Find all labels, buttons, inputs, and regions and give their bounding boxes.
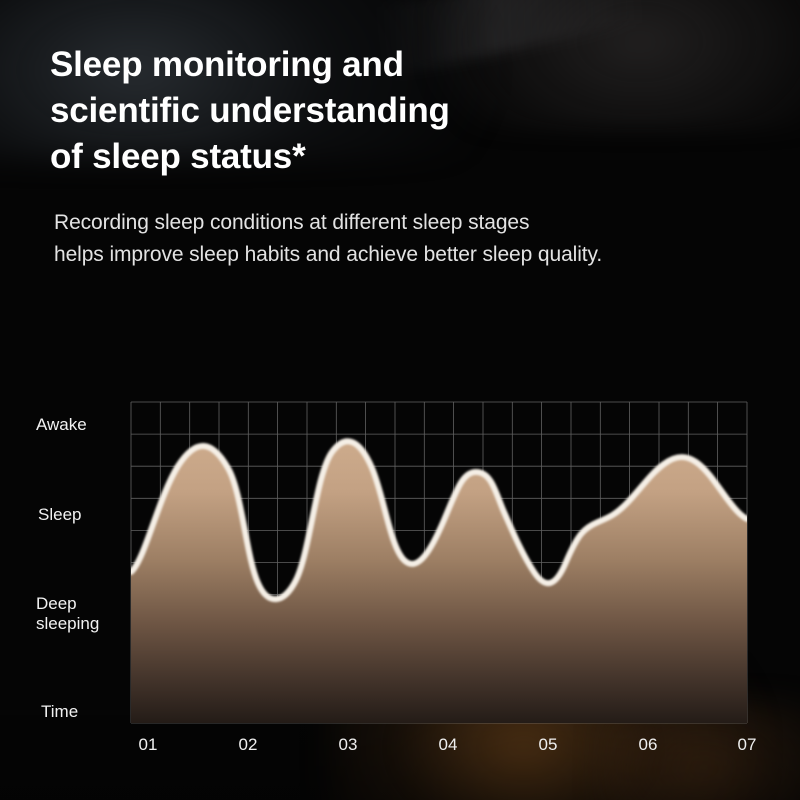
sleep-monitoring-promo-page: Sleep monitoring and scientific understa…: [0, 0, 800, 800]
x-axis-tick-04: 04: [428, 735, 468, 755]
background-glow-bottom-warm: [330, 660, 760, 800]
x-axis-tick-02: 02: [228, 735, 268, 755]
x-axis-tick-06: 06: [628, 735, 668, 755]
y-axis-label-deep-sleeping: Deep sleeping: [36, 594, 99, 635]
sleep-curve-area: [131, 441, 747, 723]
page-title: Sleep monitoring and scientific understa…: [50, 42, 650, 181]
x-axis-tick-05: 05: [528, 735, 568, 755]
background-vignette-bottom: [0, 680, 800, 800]
sleep-curve-line: [131, 441, 747, 599]
x-axis-tick-07: 07: [727, 735, 767, 755]
y-axis-label-awake: Awake: [36, 415, 87, 435]
x-axis-tick-03: 03: [328, 735, 368, 755]
y-axis-label-time: Time: [41, 702, 78, 722]
page-subtitle: Recording sleep conditions at different …: [54, 207, 734, 271]
x-axis-tick-01: 01: [128, 735, 168, 755]
y-axis-label-sleep: Sleep: [38, 505, 81, 525]
chart-grid: [131, 402, 747, 723]
